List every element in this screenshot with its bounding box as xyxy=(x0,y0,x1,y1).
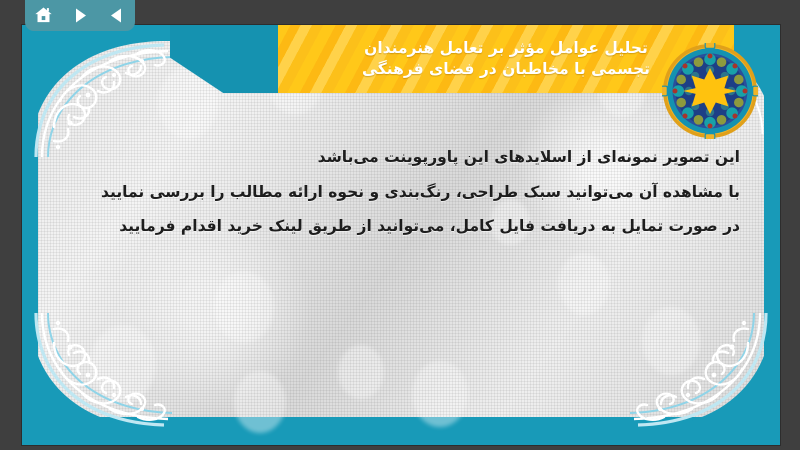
slide-viewer: تحلیل عوامل مؤثر بر تعامل هنرمندان تجسمی… xyxy=(0,0,800,450)
persian-medallion-icon xyxy=(662,43,758,139)
bokeh-circle xyxy=(642,307,700,375)
next-triangle-icon xyxy=(72,7,89,24)
bokeh-circle xyxy=(90,325,156,403)
home-button[interactable] xyxy=(30,3,56,29)
next-button[interactable] xyxy=(67,3,93,29)
home-icon xyxy=(34,6,53,25)
slide-body: این تصویر نمونه‌ای از اسلایدهای این پاور… xyxy=(80,143,740,247)
bokeh-circle xyxy=(412,361,468,427)
bokeh-circle xyxy=(214,271,274,343)
prev-button[interactable] xyxy=(104,3,130,29)
bokeh-circle xyxy=(338,345,384,399)
prev-triangle-icon xyxy=(108,7,125,24)
bokeh-circle xyxy=(234,371,286,433)
slide-canvas: تحلیل عوامل مؤثر بر تعامل هنرمندان تجسمی… xyxy=(22,25,780,445)
body-line-3: در صورت تمایل به دریافت فایل کامل، می‌تو… xyxy=(80,212,740,241)
body-line-2: با مشاهده آن می‌توانید سبک طراحی، رنگ‌بن… xyxy=(80,178,740,207)
navigation-bar xyxy=(25,0,135,31)
slide-title: تحلیل عوامل مؤثر بر تعامل هنرمندان تجسمی… xyxy=(348,38,664,81)
body-line-1: این تصویر نمونه‌ای از اسلایدهای این پاور… xyxy=(80,143,740,172)
bokeh-circle xyxy=(558,253,610,315)
